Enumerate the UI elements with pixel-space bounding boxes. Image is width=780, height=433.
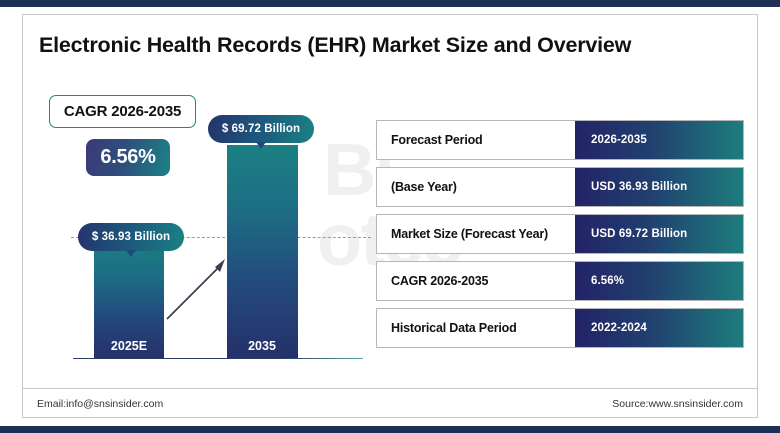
cagr-label-box: CAGR 2026-2035 bbox=[49, 95, 196, 128]
value-pill-2025e: $ 36.93 Billion bbox=[78, 223, 184, 251]
chart-baseline bbox=[73, 358, 363, 359]
table-row-value: 2022-2024 bbox=[575, 309, 743, 347]
table-row-value: USD 36.93 Billion bbox=[575, 168, 743, 206]
infographic-card: Bi otec Electronic Health Records (EHR) … bbox=[22, 14, 758, 418]
bar-chart: 2025E 2035 $ 36.93 Billion $ 69.72 Billi… bbox=[23, 15, 383, 418]
table-row-label: Market Size (Forecast Year) bbox=[377, 215, 575, 253]
table-row: Market Size (Forecast Year) USD 69.72 Bi… bbox=[376, 214, 744, 254]
table-row-label: (Base Year) bbox=[377, 168, 575, 206]
growth-arrow-icon bbox=[163, 255, 231, 323]
table-row-value: 2026-2035 bbox=[575, 121, 743, 159]
value-pill-2035: $ 69.72 Billion bbox=[208, 115, 314, 143]
table-row-label: Historical Data Period bbox=[377, 309, 575, 347]
bar-label-2025e: 2025E bbox=[94, 339, 164, 353]
cagr-value-text: 6.56% bbox=[100, 146, 155, 169]
cagr-label-text: CAGR 2026-2035 bbox=[64, 103, 181, 120]
table-row: (Base Year) USD 36.93 Billion bbox=[376, 167, 744, 207]
value-pill-2035-text: $ 69.72 Billion bbox=[222, 123, 300, 135]
value-pill-2025e-text: $ 36.93 Billion bbox=[92, 231, 170, 243]
table-row: Historical Data Period 2022-2024 bbox=[376, 308, 744, 348]
bottom-accent-bar bbox=[0, 426, 780, 433]
page-title: Electronic Health Records (EHR) Market S… bbox=[39, 33, 631, 58]
footer-source: Source:www.snsinsider.com bbox=[612, 398, 743, 410]
overview-table: Forecast Period 2026-2035 (Base Year) US… bbox=[376, 120, 744, 348]
bar-label-2035: 2035 bbox=[227, 339, 297, 353]
cagr-value-badge: 6.56% bbox=[86, 139, 170, 176]
table-row-label: Forecast Period bbox=[377, 121, 575, 159]
table-row-value: 6.56% bbox=[575, 262, 743, 300]
table-row: CAGR 2026-2035 6.56% bbox=[376, 261, 744, 301]
top-accent-bar bbox=[0, 0, 780, 7]
bar-2035 bbox=[227, 145, 298, 359]
table-row: Forecast Period 2026-2035 bbox=[376, 120, 744, 160]
table-row-value: USD 69.72 Billion bbox=[575, 215, 743, 253]
table-row-label: CAGR 2026-2035 bbox=[377, 262, 575, 300]
